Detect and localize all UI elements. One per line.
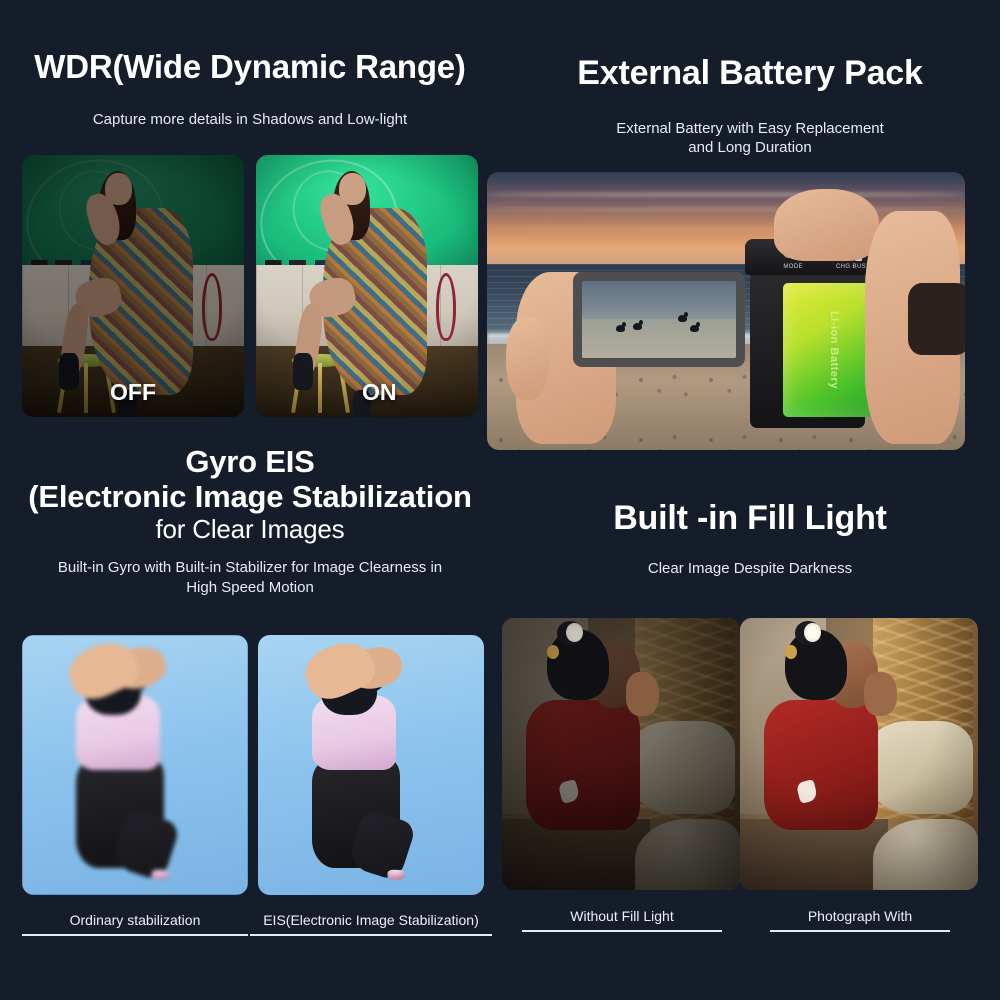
eis-photo-ordinary <box>22 635 248 895</box>
wdr-on-label: ON <box>362 379 397 406</box>
fill-light-title: Built -in Fill Light <box>500 500 1000 536</box>
low-light-shading <box>502 618 740 890</box>
eis-title-line1: Gyro EIS <box>0 446 500 479</box>
wdr-title: WDR(Wide Dynamic Range) <box>0 50 500 85</box>
camcorder-flip-screen <box>573 272 745 367</box>
wrist-band <box>908 283 965 355</box>
eis-caption-ordinary: Ordinary stabilization <box>22 912 248 936</box>
section-battery: External Battery Pack External Battery w… <box>500 0 1000 460</box>
jumping-child <box>63 645 226 895</box>
photo-vignette <box>256 155 478 417</box>
eis-subtitle-line1: Built-in Gyro with Built-in Stabilizer f… <box>0 558 500 577</box>
fill-light-photo-with <box>740 618 978 890</box>
infographic-page: WDR(Wide Dynamic Range) Capture more det… <box>0 0 1000 1000</box>
right-hand-fingers <box>774 189 879 261</box>
wdr-off-label: OFF <box>110 379 156 406</box>
wdr-photo-off <box>22 155 244 417</box>
battery-subtitle-line1: External Battery with Easy Replacement <box>500 119 1000 138</box>
fill-light-caption-with: Photograph With <box>770 908 950 932</box>
battery-title: External Battery Pack <box>500 55 1000 91</box>
eis-subtitle-line2: High Speed Motion <box>0 578 500 597</box>
section-fill-light: Built -in Fill Light Clear Image Despite… <box>500 460 1000 1000</box>
screen-sea <box>582 281 736 321</box>
cloud-band <box>487 193 965 196</box>
wdr-subtitle: Capture more details in Shadows and Low-… <box>0 110 500 129</box>
bird-silhouette <box>633 323 642 330</box>
battery-photo: MODE CHG BUSY Li- <box>487 172 965 450</box>
fill-light-shading <box>740 618 978 890</box>
section-gyro-eis: Gyro EIS (Electronic Image Stabilization… <box>0 440 500 1000</box>
eis-photo-stabilized <box>258 635 484 895</box>
cloud-band <box>487 208 965 211</box>
bird-silhouette <box>616 325 625 332</box>
camera-mode-label: MODE <box>783 264 803 270</box>
fill-light-photo-without <box>502 618 740 890</box>
fill-light-subtitle: Clear Image Despite Darkness <box>500 559 1000 578</box>
screen-shore <box>582 319 736 357</box>
section-wdr: WDR(Wide Dynamic Range) Capture more det… <box>0 0 500 440</box>
bird-silhouette <box>678 315 687 322</box>
battery-label: Li-ion Battery <box>828 311 840 389</box>
screen-preview <box>582 281 736 358</box>
wdr-photo-on <box>256 155 478 417</box>
thumb <box>506 317 549 400</box>
underexposure-overlay <box>22 155 244 417</box>
child-sneaker <box>151 870 168 880</box>
eis-title-line3: for Clear Images <box>0 516 500 544</box>
battery-subtitle-line2: and Long Duration <box>500 138 1000 157</box>
child-sneaker <box>387 870 404 880</box>
jumping-child <box>299 645 462 895</box>
eis-title-line2: (Electronic Image Stabilization <box>0 481 500 514</box>
bird-silhouette <box>690 325 699 332</box>
eis-caption-stabilized: EIS(Electronic Image Stabilization) <box>250 912 492 936</box>
fill-light-caption-without: Without Fill Light <box>522 908 722 932</box>
